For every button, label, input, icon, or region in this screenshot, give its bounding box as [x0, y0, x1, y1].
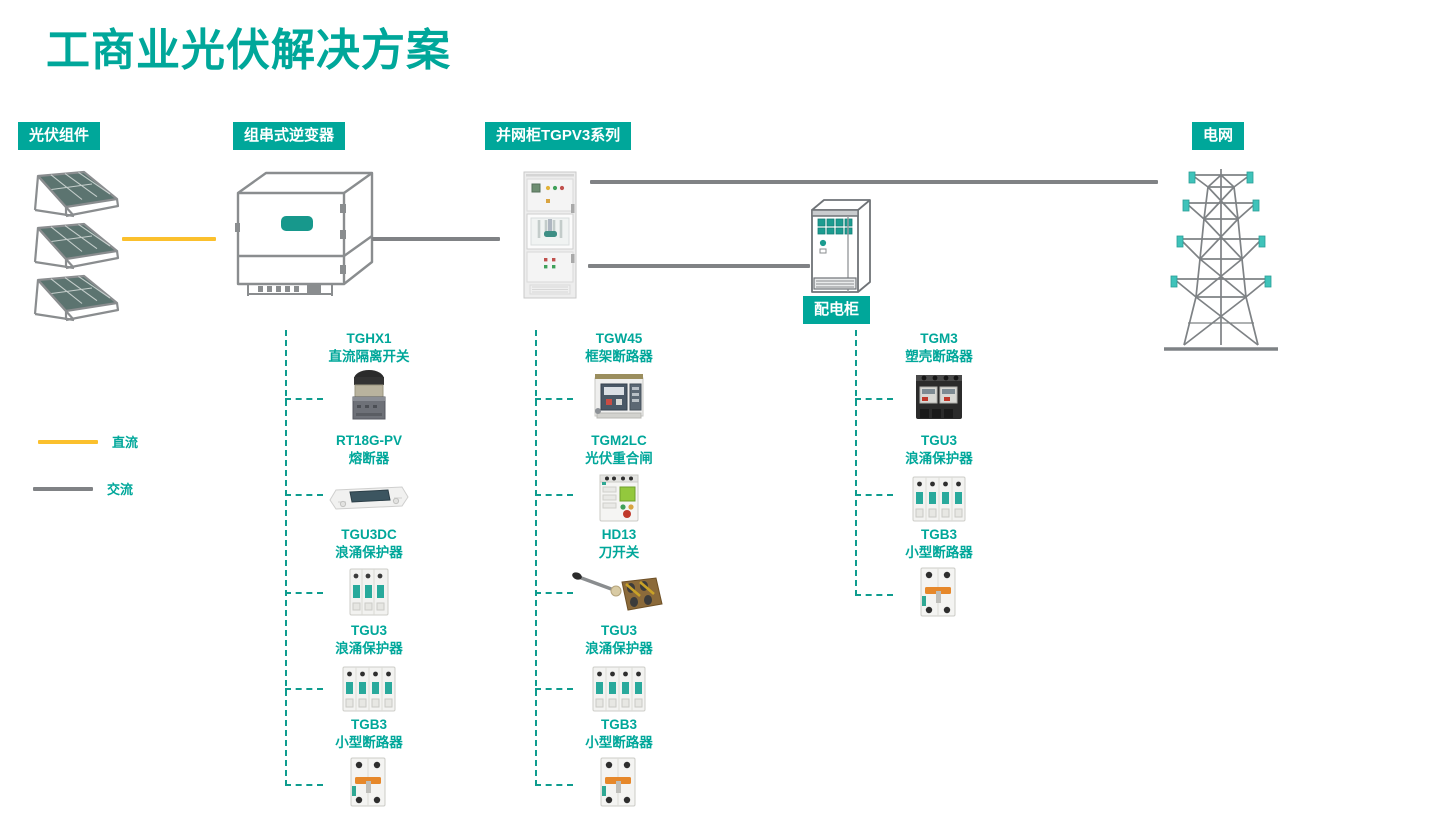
product-item[interactable]: TGU3 浪涌保护器: [859, 432, 1019, 527]
connection-grid-cabinet-to-distribution: [588, 264, 810, 268]
legend-item-dc: 直流: [38, 432, 138, 451]
product-desc: 浪涌保护器: [539, 640, 699, 658]
moulded-case-circuit-breaker-icon: [859, 367, 1019, 425]
miniature-circuit-breaker-icon: [289, 753, 449, 811]
product-desc: 光伏重合闸: [539, 450, 699, 468]
product-code: TGU3: [859, 432, 1019, 450]
distribution-cabinet-icon: [808, 196, 874, 299]
fuse-holder-icon: [289, 469, 449, 527]
section-chip-power-grid: 电网: [1192, 122, 1244, 150]
air-circuit-breaker-icon: [539, 367, 699, 425]
product-item[interactable]: TGB3 小型断路器: [859, 526, 1019, 621]
product-code: TGB3: [539, 716, 699, 734]
section-chip-distribution-cabinet: 配电柜: [803, 296, 870, 324]
surge-protector-dc-icon: [289, 563, 449, 621]
string-inverter-icon: [228, 168, 378, 305]
surge-protector-icon: [289, 659, 449, 717]
transmission-tower-icon: [1158, 163, 1284, 364]
section-chip-pv-modules: 光伏组件: [18, 122, 100, 150]
miniature-circuit-breaker-icon: [859, 563, 1019, 621]
product-item[interactable]: TGHX1 直流隔离开关: [289, 330, 449, 425]
product-desc: 塑壳断路器: [859, 348, 1019, 366]
pv-recloser-icon: [539, 469, 699, 527]
product-item[interactable]: HD13 刀开关: [539, 526, 699, 621]
product-code: TGU3: [289, 622, 449, 640]
legend-swatch-ac: [33, 487, 93, 491]
product-desc: 浪涌保护器: [289, 544, 449, 562]
miniature-circuit-breaker-icon: [539, 753, 699, 811]
product-code: TGB3: [289, 716, 449, 734]
connection-inverter-to-grid-cabinet: [372, 237, 500, 241]
legend-label-dc: 直流: [112, 432, 138, 451]
product-desc: 框架断路器: [539, 348, 699, 366]
product-code: TGM2LC: [539, 432, 699, 450]
product-code: TGW45: [539, 330, 699, 348]
product-desc: 浪涌保护器: [859, 450, 1019, 468]
product-desc: 浪涌保护器: [289, 640, 449, 658]
section-chip-string-inverter: 组串式逆变器: [233, 122, 345, 150]
product-item[interactable]: TGB3 小型断路器: [289, 716, 449, 811]
product-item[interactable]: TGU3DC 浪涌保护器: [289, 526, 449, 621]
product-code: RT18G-PV: [289, 432, 449, 450]
dc-isolator-switch-icon: [289, 367, 449, 425]
legend-swatch-dc: [38, 440, 98, 444]
section-chip-grid-cabinet: 并网柜TGPV3系列: [485, 122, 631, 150]
product-item[interactable]: TGW45 框架断路器: [539, 330, 699, 425]
knife-switch-icon: [539, 563, 699, 621]
column-spine: [855, 330, 857, 596]
product-code: TGM3: [859, 330, 1019, 348]
product-desc: 小型断路器: [539, 734, 699, 752]
product-item[interactable]: TGU3 浪涌保护器: [289, 622, 449, 717]
connection-pv-to-inverter: [122, 237, 216, 241]
surge-protector-icon: [859, 469, 1019, 527]
product-code: HD13: [539, 526, 699, 544]
product-item[interactable]: TGU3 浪涌保护器: [539, 622, 699, 717]
product-item[interactable]: TGM3 塑壳断路器: [859, 330, 1019, 425]
product-desc: 熔断器: [289, 450, 449, 468]
legend-item-ac: 交流: [33, 479, 133, 498]
connection-grid-cabinet-to-tower: [590, 180, 1158, 184]
product-code: TGHX1: [289, 330, 449, 348]
product-code: TGU3: [539, 622, 699, 640]
legend-label-ac: 交流: [107, 479, 133, 498]
surge-protector-icon: [539, 659, 699, 717]
product-item[interactable]: RT18G-PV 熔断器: [289, 432, 449, 527]
product-desc: 小型断路器: [859, 544, 1019, 562]
product-desc: 小型断路器: [289, 734, 449, 752]
page-title: 工商业光伏解决方案: [46, 26, 451, 75]
product-item[interactable]: TGM2LC 光伏重合闸: [539, 432, 699, 527]
grid-connection-cabinet-icon: [522, 168, 578, 305]
solar-panel-icon: [22, 270, 122, 331]
product-item[interactable]: TGB3 小型断路器: [539, 716, 699, 811]
product-code: TGU3DC: [289, 526, 449, 544]
product-desc: 直流隔离开关: [289, 348, 449, 366]
product-desc: 刀开关: [539, 544, 699, 562]
product-code: TGB3: [859, 526, 1019, 544]
